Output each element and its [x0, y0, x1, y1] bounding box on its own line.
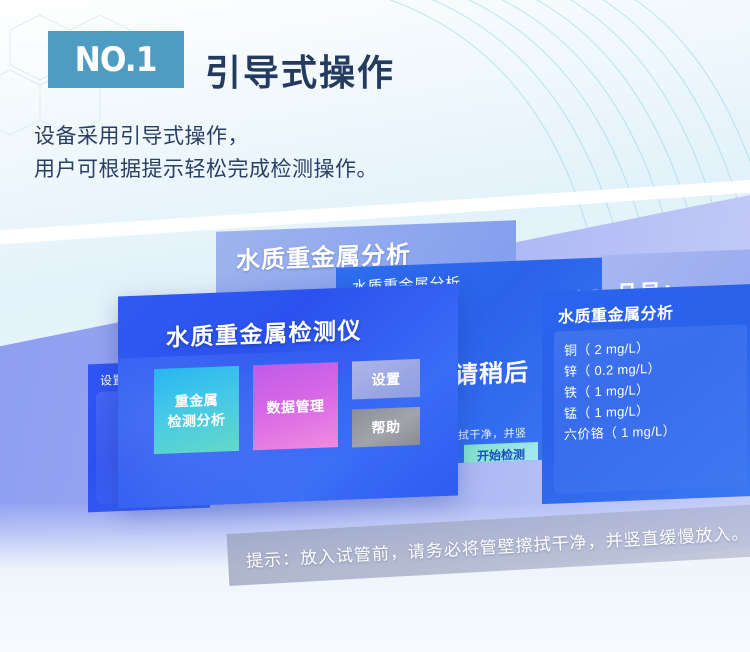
- screen-analysis-detail: 水质重金属分析 铜（ 2 mg/L） 锌（ 0.2 mg/L） 铁（ 1 mg/…: [542, 284, 750, 504]
- metal-limit-list[interactable]: 铜（ 2 mg/L） 锌（ 0.2 mg/L） 铁（ 1 mg/L） 锰（ 1 …: [554, 324, 747, 493]
- tile-metal-analysis[interactable]: 重金属 检测分析: [154, 366, 239, 454]
- tip-banner: 提示：放入试管前，请务必将管壁擦拭干净，并竖直缓慢放入。: [227, 504, 750, 586]
- screen-main-menu-title: 水质重金属检测仪: [166, 311, 362, 353]
- tile-data-management[interactable]: 数据管理: [253, 362, 338, 450]
- tile-help[interactable]: 帮助: [352, 407, 420, 448]
- tile-metal-analysis-label-2: 检测分析: [168, 409, 226, 431]
- tip-banner-text: 提示：放入试管前，请务必将管壁擦拭干净，并竖直缓慢放入。: [227, 518, 750, 572]
- number-badge-label: NO.1: [75, 40, 157, 80]
- promo-page: NO.1 引导式操作 设备采用引导式操作， 用户可根据提示轻松完成检测操作。 水…: [0, 0, 750, 652]
- tile-settings[interactable]: 设置: [352, 359, 420, 400]
- screen-analysis-detail-title: 水质重金属分析: [558, 299, 674, 327]
- number-badge: NO.1: [48, 31, 184, 88]
- main-menu-tiles: 重金属 检测分析 数据管理 设置 帮助: [154, 359, 420, 455]
- screen-waiting-tip: 拭干净，并竖: [458, 424, 526, 443]
- tile-metal-analysis-label-1: 重金属: [168, 389, 226, 411]
- waiting-message: 请稍后: [454, 352, 529, 390]
- subtitle-line-1: 设备采用引导式操作，: [34, 120, 378, 153]
- subtitle-line-2: 用户可根据提示轻松完成检测操作。: [34, 153, 378, 186]
- screen-main-menu: 水质重金属检测仪 重金属 检测分析 数据管理 设置 帮助: [118, 283, 458, 508]
- tile-column-right: 设置 帮助: [352, 359, 420, 448]
- page-title: 引导式操作: [205, 44, 395, 96]
- start-detection-button[interactable]: 开始检测: [464, 442, 538, 467]
- page-subtitle: 设备采用引导式操作， 用户可根据提示轻松完成检测操作。: [34, 120, 378, 186]
